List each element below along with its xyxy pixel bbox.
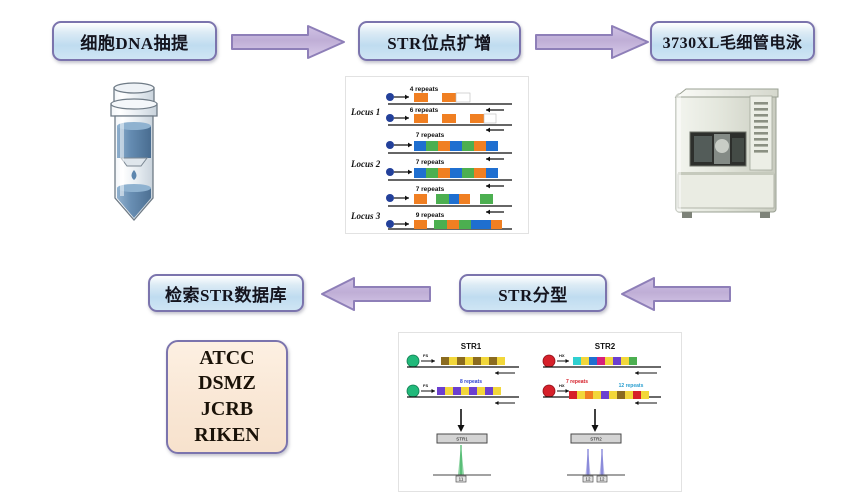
svg-text:FS: FS xyxy=(423,383,428,388)
svg-text:Locus 2: Locus 2 xyxy=(350,159,381,169)
database-item-atcc: ATCC xyxy=(199,346,254,372)
svg-text:STR2: STR2 xyxy=(590,437,602,442)
step-box-str-amplification-label: STR位点扩增 xyxy=(387,29,492,54)
step-box-database-search[interactable]: 检索STR数据库 xyxy=(148,274,304,312)
step-box-dna-extraction[interactable]: 细胞DNA抽提 xyxy=(52,21,217,61)
svg-text:STR2: STR2 xyxy=(595,342,616,351)
str-typing-figure: .ttl{font-family:"Liberation Sans",sans-… xyxy=(398,332,682,492)
svg-text:12 repeats: 12 repeats xyxy=(619,383,644,389)
svg-text:6 repeats: 6 repeats xyxy=(410,107,439,114)
svg-text:HX: HX xyxy=(559,383,565,388)
step-box-database-search-label: 检索STR数据库 xyxy=(165,281,287,306)
svg-text:Locus 3: Locus 3 xyxy=(350,211,381,221)
arrow-left-2 xyxy=(320,276,432,312)
step-box-str-genotyping[interactable]: STR分型 xyxy=(459,274,607,312)
step-box-capillary-electrophoresis[interactable]: 3730XL毛细管电泳 xyxy=(650,21,815,61)
svg-text:12: 12 xyxy=(599,477,605,482)
arrow-right-1 xyxy=(230,24,346,60)
step-box-capillary-electrophoresis-label: 3730XL毛细管电泳 xyxy=(663,29,803,53)
svg-text:STR1: STR1 xyxy=(461,342,482,351)
svg-text:7 repeats: 7 repeats xyxy=(416,132,445,139)
database-item-riken: RIKEN xyxy=(194,423,260,449)
workflow-diagram: 细胞DNA抽提 STR位点扩增 3730XL毛细管电泳 xyxy=(0,0,843,496)
database-item-jcrb: JCRB xyxy=(201,397,253,423)
svg-text:7 repeats: 7 repeats xyxy=(416,186,445,193)
svg-text:STR1: STR1 xyxy=(456,437,468,442)
arrow-right-2 xyxy=(534,24,650,60)
step-box-str-genotyping-label: STR分型 xyxy=(498,281,568,306)
svg-text:FS: FS xyxy=(423,353,428,358)
database-item-dsmz: DSMZ xyxy=(198,371,256,397)
svg-text:11: 11 xyxy=(459,477,464,482)
svg-text:Locus 1: Locus 1 xyxy=(350,107,380,117)
step-box-dna-extraction-label: 细胞DNA抽提 xyxy=(80,29,188,54)
svg-text:7 repeats: 7 repeats xyxy=(566,379,588,385)
step-box-str-amplification[interactable]: STR位点扩增 xyxy=(358,21,521,61)
str-locus-amplification-figure: .lt{font-family:"Liberation Serif",serif… xyxy=(345,76,529,234)
svg-text:12: 12 xyxy=(585,477,591,482)
svg-text:4 repeats: 4 repeats xyxy=(410,86,439,93)
capillary-electrophoresis-instrument-image xyxy=(668,84,786,228)
svg-text:8 repeats: 8 repeats xyxy=(460,379,482,385)
str-database-list-box[interactable]: ATCC DSMZ JCRB RIKEN xyxy=(166,340,288,454)
svg-text:7 repeats: 7 repeats xyxy=(416,159,445,166)
svg-text:HX: HX xyxy=(559,353,565,358)
dna-extraction-spin-column-image xyxy=(88,82,180,230)
arrow-left-1 xyxy=(620,276,732,312)
svg-text:9 repeats: 9 repeats xyxy=(416,212,445,219)
